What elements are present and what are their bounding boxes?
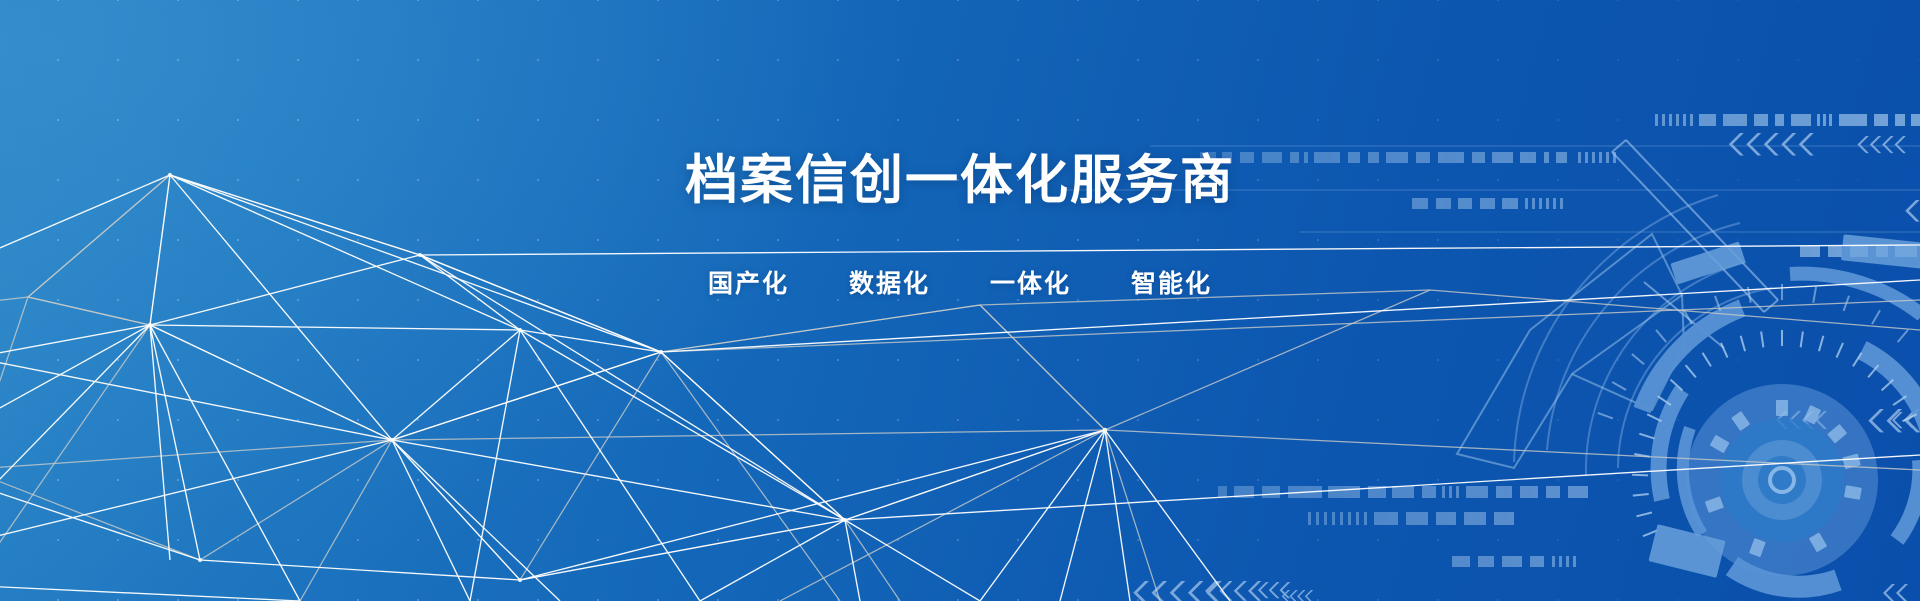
polygon-wireframe-mesh (0, 0, 1920, 601)
hero-banner: 档案信创一体化服务商 国产化 数据化 一体化 智能化 (0, 0, 1920, 601)
wireframe-white-lines (0, 175, 1920, 601)
wireframe-nodes (148, 173, 1107, 582)
wireframe-grey-lines (0, 175, 1920, 601)
